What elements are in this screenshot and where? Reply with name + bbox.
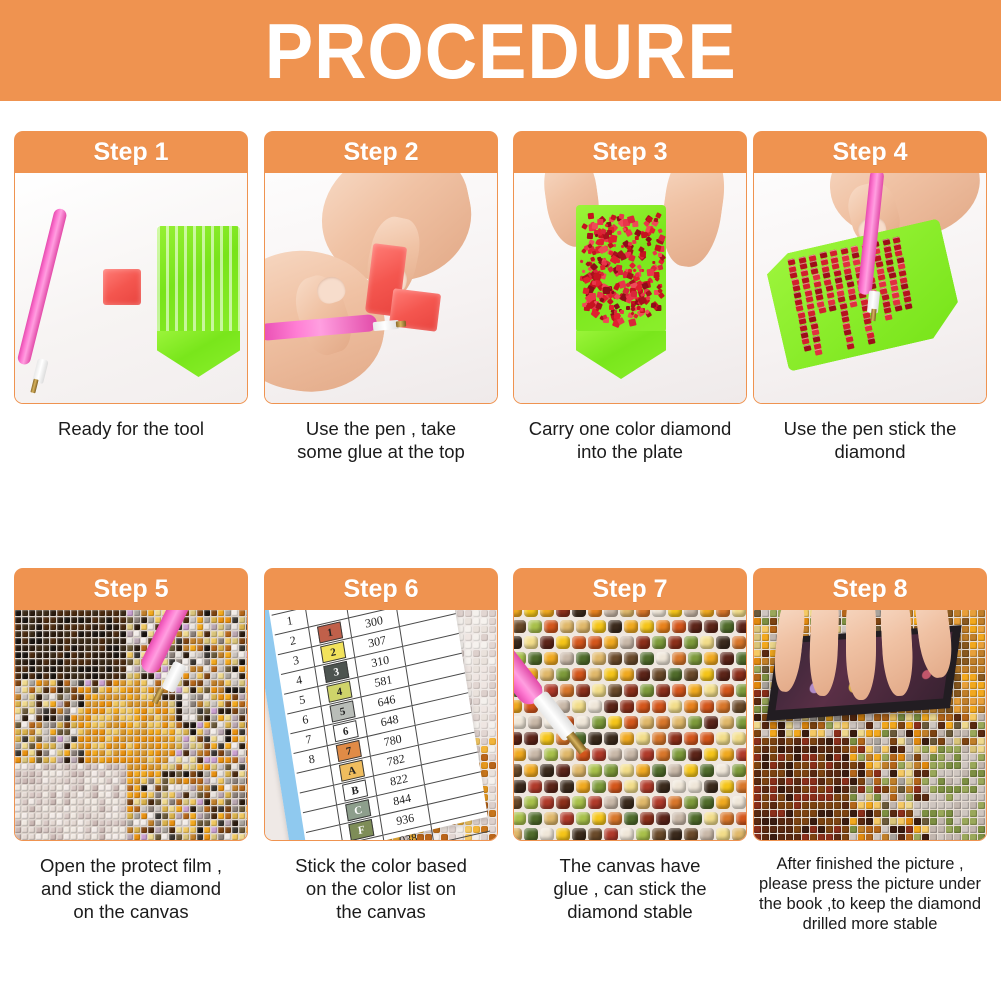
drill: [640, 620, 654, 633]
drill: [57, 617, 63, 623]
drill: [938, 714, 945, 721]
drill: [141, 771, 147, 777]
drill: [898, 834, 905, 840]
drill: [544, 620, 558, 633]
drill: [197, 799, 203, 805]
drill: [489, 610, 496, 617]
drill: [465, 634, 472, 641]
drill: [762, 690, 769, 697]
drill: [970, 810, 977, 817]
drill: [120, 610, 126, 616]
drill: [946, 770, 953, 777]
drill: [225, 708, 231, 714]
drill: [736, 716, 746, 729]
drill: [50, 701, 56, 707]
drill: [954, 826, 961, 833]
drill: [127, 736, 133, 742]
drill: [99, 708, 105, 714]
drill: [770, 786, 777, 793]
drill: [141, 701, 147, 707]
drill: [99, 680, 105, 686]
drill: [43, 778, 49, 784]
drill: [489, 626, 496, 633]
drill: [232, 778, 238, 784]
drill: [700, 796, 714, 809]
drill: [22, 715, 28, 721]
drill: [688, 748, 702, 761]
drill: [770, 834, 777, 840]
drill: [866, 738, 873, 745]
drill: [99, 764, 105, 770]
drill: [457, 610, 464, 617]
drill: [211, 631, 217, 637]
drill: [78, 743, 84, 749]
drill: [786, 794, 793, 801]
drill: [127, 673, 133, 679]
drill: [211, 638, 217, 644]
drill: [162, 813, 168, 819]
drill: [810, 818, 817, 825]
drill: [810, 770, 817, 777]
drill: [962, 610, 969, 617]
drill: [127, 631, 133, 637]
drill: [544, 812, 558, 825]
drill: [978, 738, 985, 745]
drill: [225, 694, 231, 700]
drill: [239, 638, 245, 644]
drill: [148, 729, 154, 735]
drill: [754, 810, 761, 817]
drill: [22, 638, 28, 644]
drill: [246, 708, 247, 714]
drill: [850, 834, 857, 840]
drill: [970, 786, 977, 793]
page-title: PROCEDURE: [265, 12, 737, 90]
drill: [850, 714, 857, 721]
drill: [954, 698, 961, 705]
drill: [970, 754, 977, 761]
drill: [36, 771, 42, 777]
drill: [71, 771, 77, 777]
drill: [786, 754, 793, 761]
drill: [155, 799, 161, 805]
drill: [794, 746, 801, 753]
drill: [762, 650, 769, 657]
drill: [544, 780, 558, 793]
drill: [810, 794, 817, 801]
drill: [141, 806, 147, 812]
drill: [962, 826, 969, 833]
drill: [225, 750, 231, 756]
drill: [624, 748, 638, 761]
drill: [978, 698, 985, 705]
drill: [770, 794, 777, 801]
drill: [71, 694, 77, 700]
drill: [127, 813, 133, 819]
drill: [732, 764, 746, 777]
drill: [29, 827, 35, 833]
drill: [604, 610, 618, 617]
drill: [652, 610, 666, 617]
drill: [640, 812, 654, 825]
drill: [246, 757, 247, 763]
drill: [169, 834, 175, 840]
drill: [239, 729, 245, 735]
drill: [978, 794, 985, 801]
drill: [120, 617, 126, 623]
drill: [778, 810, 785, 817]
drill: [604, 732, 618, 745]
drill: [970, 634, 977, 641]
drill: [762, 674, 769, 681]
drill: [218, 834, 224, 840]
drill: [36, 750, 42, 756]
drill: [624, 716, 638, 729]
drill: [930, 778, 937, 785]
drill: [778, 818, 785, 825]
drill: [120, 757, 126, 763]
drill: [197, 771, 203, 777]
drill: [882, 802, 889, 809]
drill: [225, 827, 231, 833]
drill: [720, 716, 734, 729]
drill: [78, 827, 84, 833]
drill: [197, 638, 203, 644]
drill: [57, 687, 63, 693]
drill: [604, 796, 618, 809]
drill: [92, 631, 98, 637]
drill: [64, 687, 70, 693]
drill: [239, 694, 245, 700]
drill: [922, 802, 929, 809]
drill: [954, 778, 961, 785]
drill: [204, 645, 210, 651]
drill: [211, 799, 217, 805]
drill: [71, 799, 77, 805]
drill: [591, 250, 596, 255]
drill: [127, 722, 133, 728]
drill: [970, 698, 977, 705]
drill: [246, 659, 247, 665]
drill: [134, 729, 140, 735]
drill: [148, 624, 154, 630]
drill: [85, 631, 91, 637]
drill: [64, 694, 70, 700]
drill: [190, 645, 196, 651]
drill: [246, 820, 247, 826]
drill: [514, 764, 522, 777]
drill: [794, 738, 801, 745]
drill: [962, 778, 969, 785]
drill: [113, 645, 119, 651]
drill: [962, 762, 969, 769]
drill: [113, 778, 119, 784]
drill: [15, 834, 21, 840]
drill: [197, 806, 203, 812]
drill: [22, 827, 28, 833]
drill: [57, 827, 63, 833]
drill: [962, 690, 969, 697]
drill: [197, 617, 203, 623]
drill: [732, 700, 746, 713]
drill: [15, 680, 21, 686]
drill: [786, 802, 793, 809]
drill: [818, 778, 825, 785]
drill: [489, 690, 496, 697]
drill: [155, 820, 161, 826]
drill: [43, 813, 49, 819]
drill: [92, 792, 98, 798]
drill: [588, 764, 602, 777]
drill: [85, 757, 91, 763]
drill: [473, 690, 480, 697]
drill: [169, 799, 175, 805]
drill: [473, 626, 480, 633]
drill: [906, 818, 913, 825]
drill: [858, 722, 865, 729]
tray-tip: [157, 331, 240, 377]
drill: [155, 680, 161, 686]
drill: [183, 708, 189, 714]
drill: [183, 750, 189, 756]
drill: [946, 722, 953, 729]
drill: [29, 792, 35, 798]
drill: [92, 757, 98, 763]
drill: [970, 834, 977, 840]
drill: [732, 610, 746, 617]
drill: [113, 771, 119, 777]
drill: [524, 764, 538, 777]
drill: [71, 736, 77, 742]
drill: [120, 806, 126, 812]
drill: [970, 690, 977, 697]
drill: [197, 708, 203, 714]
drill: [64, 645, 70, 651]
drill: [620, 244, 624, 248]
drill: [57, 750, 63, 756]
drill: [134, 673, 140, 679]
drill: [113, 610, 119, 616]
drill: [608, 812, 622, 825]
drill: [850, 722, 857, 729]
drill: [754, 818, 761, 825]
drill: [970, 714, 977, 721]
drill: [890, 818, 897, 825]
drill: [898, 810, 905, 817]
drill: [232, 631, 238, 637]
drill: [762, 762, 769, 769]
drill: [22, 813, 28, 819]
drill: [858, 802, 865, 809]
drill: [922, 762, 929, 769]
drill: [704, 748, 718, 761]
drill: [148, 750, 154, 756]
drill: [560, 780, 574, 793]
drill: [134, 659, 140, 665]
drill: [92, 645, 98, 651]
drill: [786, 746, 793, 753]
drill: [211, 694, 217, 700]
drill: [113, 792, 119, 798]
drill: [43, 806, 49, 812]
drill: [890, 794, 897, 801]
drill: [684, 796, 698, 809]
drill: [169, 785, 175, 791]
drill: [36, 715, 42, 721]
step-card-8: Step 8 After finished the picture ,: [753, 568, 987, 934]
drill: [850, 778, 857, 785]
drill: [169, 771, 175, 777]
drill: [978, 658, 985, 665]
drill: [514, 716, 526, 729]
drill: [658, 234, 665, 241]
drill: [162, 827, 168, 833]
drill: [954, 690, 961, 697]
drill: [620, 796, 634, 809]
drill: [134, 813, 140, 819]
drill: [874, 746, 881, 753]
drill: [190, 687, 196, 693]
drill: [225, 743, 231, 749]
drill: [834, 802, 841, 809]
drill: [684, 636, 698, 649]
drill: [106, 764, 112, 770]
drill: [162, 666, 168, 672]
step-8-image: [753, 610, 987, 841]
drill: [15, 806, 21, 812]
drill: [246, 778, 247, 784]
drill: [978, 826, 985, 833]
drill: [489, 634, 496, 641]
drill: [169, 792, 175, 798]
drill: [762, 834, 769, 840]
drill: [778, 770, 785, 777]
drill: [106, 729, 112, 735]
drill: [22, 806, 28, 812]
drill: [225, 785, 231, 791]
drill: [604, 636, 618, 649]
drill: [954, 794, 961, 801]
drill: [514, 796, 522, 809]
drill: [211, 785, 217, 791]
drill: [43, 694, 49, 700]
drill: [190, 834, 196, 840]
drill: [57, 813, 63, 819]
drill: [85, 701, 91, 707]
drill: [704, 716, 718, 729]
drill: [127, 764, 133, 770]
drill: [71, 687, 77, 693]
drill: [92, 771, 98, 777]
drill: [770, 746, 777, 753]
drill: [85, 708, 91, 714]
drill: [176, 652, 182, 658]
caption-line: on the color list on: [264, 877, 498, 900]
drill: [155, 778, 161, 784]
drill: [684, 732, 698, 745]
drill: [684, 610, 698, 617]
caption-line: Ready for the tool: [14, 417, 248, 440]
drill: [489, 794, 496, 801]
drill: [99, 820, 105, 826]
drill: [970, 610, 977, 617]
drill: [92, 652, 98, 658]
caption-line: Use the pen stick the: [753, 417, 987, 440]
drill: [92, 799, 98, 805]
step-4-label: Step 4: [832, 140, 907, 165]
drill: [246, 813, 247, 819]
drill: [43, 659, 49, 665]
drill: [22, 820, 28, 826]
drill: [770, 610, 777, 617]
drill: [489, 730, 496, 737]
drill: [176, 764, 182, 770]
drill: [656, 684, 670, 697]
drill: [71, 652, 77, 658]
drill: [786, 722, 793, 729]
drill: [225, 701, 231, 707]
drill: [962, 746, 969, 753]
drill: [754, 650, 761, 657]
drill: [473, 650, 480, 657]
drill: [641, 231, 648, 238]
drill: [954, 802, 961, 809]
drill: [148, 792, 154, 798]
drill: [29, 834, 35, 840]
drill: [465, 666, 472, 673]
drill: [818, 834, 825, 840]
drill: [134, 715, 140, 721]
drill: [15, 785, 21, 791]
drill: [978, 666, 985, 673]
drill: [50, 743, 56, 749]
drill: [176, 701, 182, 707]
drill: [906, 826, 913, 833]
drill: [762, 722, 769, 729]
drill: [113, 813, 119, 819]
drill: [85, 743, 91, 749]
drill: [204, 715, 210, 721]
drill: [134, 652, 140, 658]
drill: [906, 802, 913, 809]
drill: [481, 634, 488, 641]
drill: [36, 722, 42, 728]
drill: [646, 242, 651, 247]
drill: [576, 620, 590, 633]
drill: [898, 714, 905, 721]
step-7-caption: The canvas have glue , can stick the dia…: [513, 854, 747, 923]
drill: [930, 714, 937, 721]
drill: [866, 778, 873, 785]
drill: [183, 659, 189, 665]
drill: [656, 652, 670, 665]
step-3-photo: [514, 173, 746, 403]
drill: [197, 764, 203, 770]
drill: [106, 687, 112, 693]
drill: [106, 778, 112, 784]
drill: [29, 680, 35, 686]
drill: [970, 626, 977, 633]
drill: [36, 799, 42, 805]
drill: [232, 624, 238, 630]
drill: [113, 617, 119, 623]
drill: [239, 757, 245, 763]
drill: [962, 730, 969, 737]
drill: [204, 834, 210, 840]
drill: [36, 743, 42, 749]
finger: [846, 610, 876, 700]
drill: [148, 820, 154, 826]
